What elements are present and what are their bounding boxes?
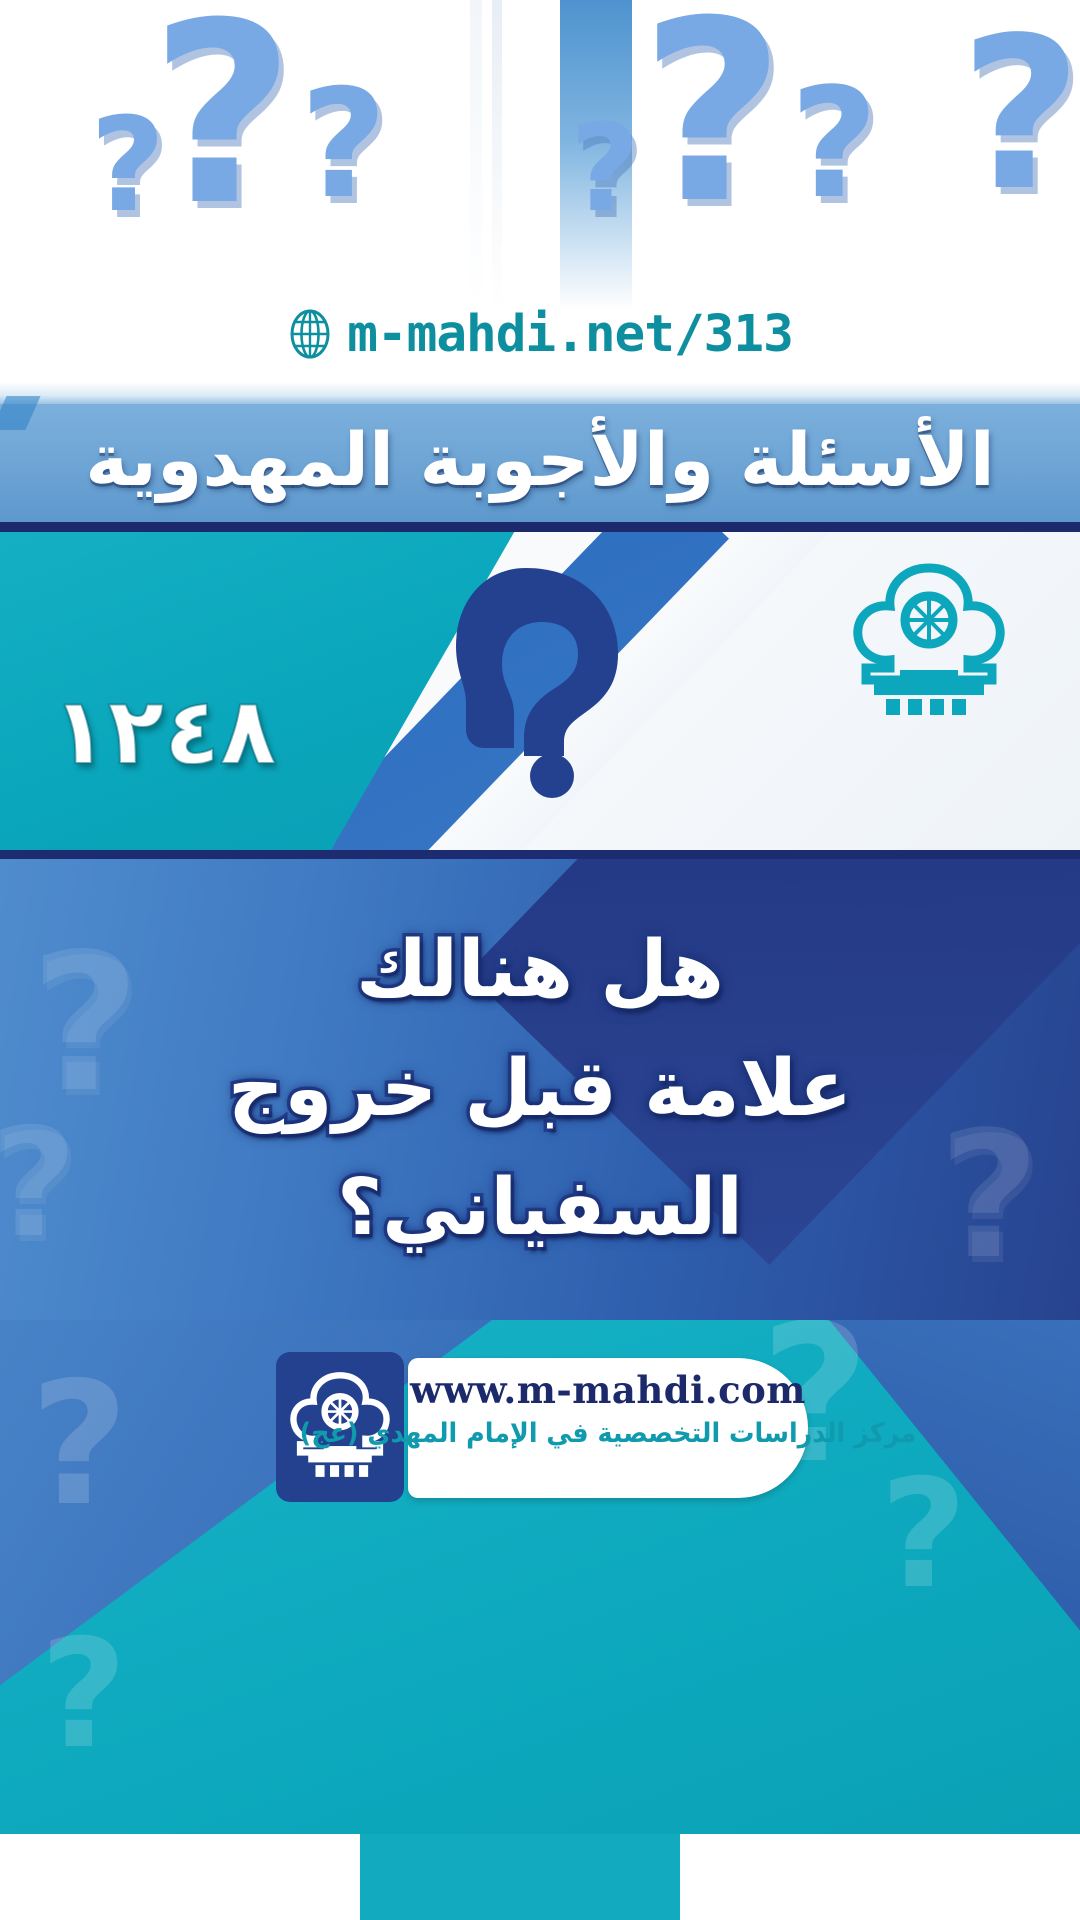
question-number: ١٢٤٨ (14, 678, 314, 785)
globe-icon (287, 308, 333, 360)
mid-diagonal-section: ١٢٤٨ (0, 532, 1080, 850)
hero-stripe-mid (492, 0, 502, 310)
footer-website-text: www.m-mahdi.com (410, 1368, 806, 1412)
site-url-bar[interactable]: m-mahdi.net/313 (0, 298, 1080, 370)
title-banner: الأسئلة والأجوبة المهدوية (0, 382, 1080, 532)
footer-info-plate[interactable]: www.m-mahdi.com مركز الدراسات التخصصية ف… (408, 1358, 808, 1498)
decorative-question-mark-icon: ? (40, 1620, 127, 1770)
poster-root: ? ? ? ? ? ? ? m-mahdi.net/313 الأسئلة وا… (0, 0, 1080, 1920)
question-panel: ? ? ? هل هنالك علامة قبل خروج السفياني؟ (0, 850, 1080, 1320)
decorative-question-mark-icon: ? (790, 68, 878, 220)
arabesque-emblem-icon (834, 558, 1024, 728)
footer-organization-text: مركز الدراسات التخصصية في الإمام المهدي … (300, 1418, 916, 1449)
decorative-question-mark-icon: ? (30, 1360, 129, 1530)
decorative-question-mark-icon: ? (150, 0, 295, 240)
head-question-mark-icon (430, 560, 620, 800)
hero-stripe-left (470, 0, 482, 310)
decorative-question-mark-icon: ? (640, 0, 785, 238)
question-text-block: هل هنالك علامة قبل خروج السفياني؟ (0, 859, 1080, 1320)
decorative-question-mark-icon: ? (570, 110, 640, 230)
footer-teal-tab (360, 1834, 680, 1920)
site-url-text: m-mahdi.net/313 (347, 305, 793, 364)
decorative-question-mark-icon: ? (960, 10, 1080, 220)
question-line-3: السفياني؟ (337, 1167, 743, 1250)
footer-section: ? ? ? ? w (0, 1320, 1080, 1920)
question-line-2: علامة قبل خروج (228, 1048, 852, 1131)
decorative-question-mark-icon: ? (880, 1460, 967, 1610)
decorative-question-mark-icon: ? (90, 100, 165, 230)
decorative-question-mark-icon: ? (300, 70, 387, 220)
question-line-1: هل هنالك (356, 929, 724, 1012)
banner-title-text: الأسئلة والأجوبة المهدوية (0, 388, 1080, 532)
